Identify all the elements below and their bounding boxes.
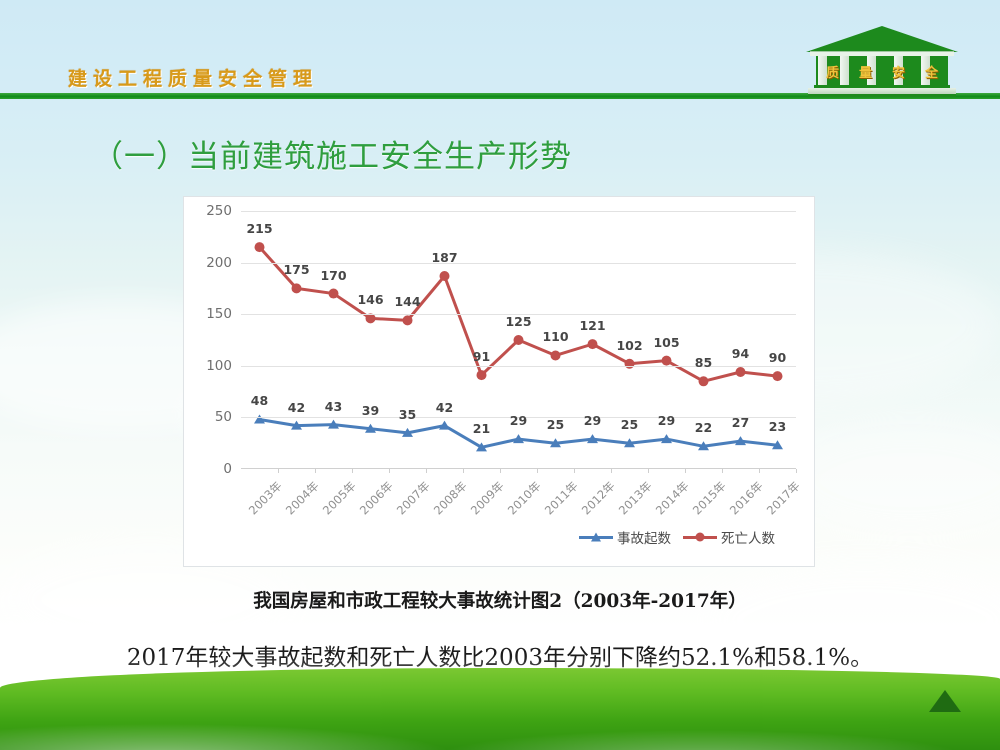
chart-x-tickmark (685, 469, 686, 473)
chart-y-tick-label: 0 (223, 461, 232, 477)
chart-x-tick-label: 2008年 (430, 478, 470, 518)
chart-data-point (736, 367, 746, 377)
chart-data-label: 144 (394, 294, 420, 309)
legend-label: 事故起数 (617, 527, 671, 547)
chart-x-tick-label: 2014年 (652, 478, 692, 518)
chart-x-tickmark (648, 469, 649, 473)
chart-data-point (329, 289, 339, 299)
legend-swatch (579, 536, 613, 539)
chart-data-label: 125 (505, 314, 531, 329)
chart-x-axis (241, 468, 796, 469)
chart-x-tick-label: 2006年 (356, 478, 396, 518)
chart-x-tick-label: 2010年 (504, 478, 544, 518)
chart-gridline (241, 211, 796, 212)
legend-label: 死亡人数 (721, 527, 775, 547)
chart-x-tickmark (574, 469, 575, 473)
chart-data-label: 42 (288, 400, 305, 415)
emblem-char: 质 (826, 62, 839, 81)
chart-data-point (514, 335, 524, 345)
chart-data-point (477, 370, 487, 380)
chart-data-label: 23 (769, 419, 786, 434)
emblem-char: 量 (859, 62, 872, 81)
legend-item[interactable]: 事故起数 (579, 527, 671, 547)
chart-x-tickmark (463, 469, 464, 473)
chart-x-tickmark (796, 469, 797, 473)
chart-data-label: 175 (283, 262, 309, 277)
emblem-char: 安 (892, 62, 905, 81)
chart-x-tickmark (722, 469, 723, 473)
chart-data-point (625, 359, 635, 369)
chart-caption: 我国房屋和市政工程较大事故统计图2（2003年-2017年） (0, 587, 1000, 613)
chart-x-tickmark (352, 469, 353, 473)
chart-data-label: 29 (510, 413, 527, 428)
chart-data-label: 105 (653, 335, 679, 350)
chart-x-tick-label: 2012年 (578, 478, 618, 518)
emblem-plinth (808, 88, 956, 97)
chart-x-tick-label: 2004年 (282, 478, 322, 518)
chart-data-label: 187 (431, 250, 457, 265)
chart-x-tick-label: 2015年 (689, 478, 729, 518)
chart-y-tick-label: 150 (206, 306, 232, 322)
chart-y-tick-label: 100 (206, 358, 232, 374)
chart-series-lines (241, 211, 796, 469)
chart-data-label: 22 (695, 420, 712, 435)
chart-x-tickmark (500, 469, 501, 473)
chart-data-label: 42 (436, 400, 453, 415)
chart-data-point (551, 350, 561, 360)
chart-data-point (662, 356, 672, 366)
chart-plot-area: 0501001502002502003年2004年2005年2006年2007年… (241, 211, 796, 469)
chart-data-point (255, 242, 265, 252)
chart-data-label: 94 (732, 346, 749, 361)
chart-panel: 0501001502002502003年2004年2005年2006年2007年… (183, 196, 815, 567)
chart-data-label: 21 (473, 421, 490, 436)
page-title: （一）当前建筑施工安全生产形势 (92, 131, 572, 176)
chart-data-label: 25 (547, 417, 564, 432)
chart-data-label: 29 (584, 413, 601, 428)
emblem-text: 质 量 安 全 (816, 62, 948, 81)
chart-x-tick-label: 2003年 (245, 478, 285, 518)
chart-data-label: 146 (357, 292, 383, 307)
chart-data-label: 35 (399, 407, 416, 422)
chart-x-tick-label: 2016年 (726, 478, 766, 518)
chart-data-label: 85 (695, 355, 712, 370)
chart-x-tickmark (315, 469, 316, 473)
chart-data-label: 25 (621, 417, 638, 432)
grass-footer (0, 668, 1000, 750)
chart-data-label: 110 (542, 329, 568, 344)
chart-legend: 事故起数死亡人数 (579, 527, 775, 547)
header-title: 建设工程质量安全管理 (68, 64, 318, 91)
emblem-char: 全 (925, 62, 938, 81)
chart-y-tick-label: 50 (215, 409, 232, 425)
chart-x-tickmark (537, 469, 538, 473)
chart-data-point (773, 371, 783, 381)
chart-x-tick-label: 2009年 (467, 478, 507, 518)
legend-circle-icon (696, 533, 705, 542)
chart-data-label: 215 (246, 221, 272, 236)
chart-data-label: 39 (362, 403, 379, 418)
chart-x-tick-label: 2013年 (615, 478, 655, 518)
triangle-up-icon[interactable] (929, 690, 961, 712)
chart-x-tick-label: 2005年 (319, 478, 359, 518)
legend-item[interactable]: 死亡人数 (683, 527, 775, 547)
chart-y-tick-label: 250 (206, 203, 232, 219)
chart-x-tickmark (759, 469, 760, 473)
chart-data-label: 29 (658, 413, 675, 428)
summary-text: 2017年较大事故起数和死亡人数比2003年分别下降约52.1%和58.1%。 (0, 638, 1000, 672)
chart-data-label: 91 (473, 349, 490, 364)
chart-x-tickmark (426, 469, 427, 473)
chart-x-tickmark (389, 469, 390, 473)
chart-data-point (292, 283, 302, 293)
legend-triangle-icon (591, 533, 601, 542)
chart-x-tick-label: 2017年 (763, 478, 803, 518)
chart-x-tick-label: 2011年 (541, 478, 581, 518)
chart-data-label: 90 (769, 350, 786, 365)
legend-swatch (683, 536, 717, 539)
chart-x-tickmark (278, 469, 279, 473)
chart-gridline (241, 263, 796, 264)
emblem-roof-icon (806, 26, 958, 52)
chart-data-point (403, 315, 413, 325)
chart-data-label: 170 (320, 268, 346, 283)
chart-gridline (241, 366, 796, 367)
chart-y-tick-label: 200 (206, 255, 232, 271)
chart-data-label: 102 (616, 338, 642, 353)
quality-safety-emblem: 质 量 安 全 (806, 26, 958, 98)
chart-data-point (588, 339, 598, 349)
chart-data-label: 43 (325, 399, 342, 414)
chart-data-label: 48 (251, 393, 268, 408)
chart-data-point (440, 271, 450, 281)
chart-x-tick-label: 2007年 (393, 478, 433, 518)
chart-data-label: 27 (732, 415, 749, 430)
chart-data-label: 121 (579, 318, 605, 333)
chart-data-point (699, 376, 709, 386)
chart-x-tickmark (611, 469, 612, 473)
